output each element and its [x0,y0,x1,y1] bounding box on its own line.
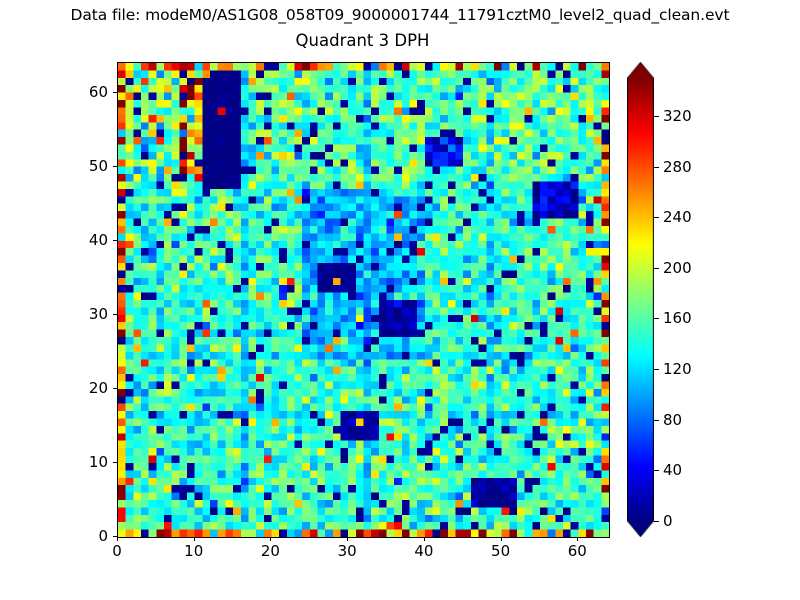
page-title: Quadrant 3 DPH [117,31,608,50]
colorbar-tick-label-80: 80 [663,411,682,429]
y-tick-label-60: 60 [72,83,108,101]
y-tick-label-50: 50 [72,157,108,175]
colorbar-tick-mark-40 [654,470,659,471]
data-file-label: Data file: modeM0/AS1G08_058T09_90000017… [0,6,800,24]
x-tick-label-50: 50 [491,542,510,560]
x-tick-label-40: 40 [414,542,433,560]
y-tick-label-30: 30 [72,305,108,323]
y-tick-mark-20 [113,388,117,389]
x-tick-mark-30 [347,537,348,541]
colorbar-tick-mark-240 [654,217,659,218]
colorbar-tick-mark-160 [654,318,659,319]
colorbar-tick-label-240: 240 [663,208,692,226]
x-tick-mark-0 [117,537,118,541]
y-tick-mark-40 [113,240,117,241]
colorbar-tick-label-320: 320 [663,107,692,125]
y-tick-mark-0 [113,536,117,537]
x-tick-label-60: 60 [568,542,587,560]
y-tick-label-40: 40 [72,231,108,249]
x-tick-label-30: 30 [338,542,357,560]
colorbar-tick-mark-80 [654,420,659,421]
y-tick-mark-30 [113,314,117,315]
y-tick-mark-10 [113,462,117,463]
colorbar-gradient [627,62,654,537]
x-tick-mark-20 [270,537,271,541]
y-tick-label-20: 20 [72,379,108,397]
heatmap-image[interactable] [118,63,609,537]
x-tick-mark-40 [424,537,425,541]
heatmap-plot-area[interactable] [117,62,610,538]
y-tick-label-10: 10 [72,453,108,471]
y-tick-mark-60 [113,92,117,93]
x-tick-label-0: 0 [112,542,122,560]
colorbar-tick-label-280: 280 [663,158,692,176]
colorbar-tick-mark-280 [654,167,659,168]
figure-canvas: Data file: modeM0/AS1G08_058T09_90000017… [0,0,800,600]
colorbar-tick-label-120: 120 [663,360,692,378]
colorbar-tick-mark-320 [654,116,659,117]
colorbar-tick-mark-200 [654,268,659,269]
colorbar[interactable] [627,62,654,537]
x-tick-mark-50 [501,537,502,541]
colorbar-tick-label-0: 0 [663,512,673,530]
colorbar-tick-mark-0 [654,521,659,522]
colorbar-tick-mark-120 [654,369,659,370]
x-tick-mark-10 [194,537,195,541]
y-tick-label-0: 0 [72,527,108,545]
x-tick-label-10: 10 [184,542,203,560]
colorbar-tick-label-160: 160 [663,309,692,327]
x-tick-mark-60 [577,537,578,541]
colorbar-tick-label-200: 200 [663,259,692,277]
y-tick-mark-50 [113,166,117,167]
x-tick-label-20: 20 [261,542,280,560]
colorbar-tick-label-40: 40 [663,461,682,479]
